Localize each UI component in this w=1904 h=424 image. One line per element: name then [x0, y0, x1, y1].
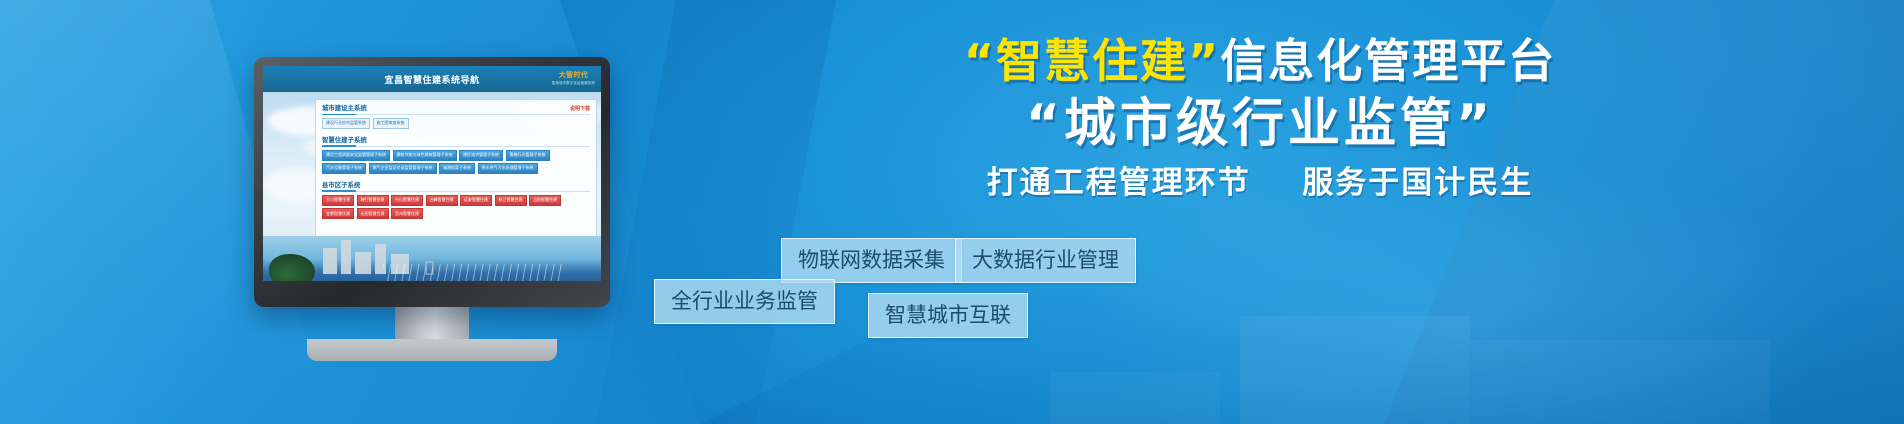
headline-line-1-rest: 信息化管理平台 [1220, 34, 1556, 88]
screen-section-sub-systems: 智慧住建子系统 建设工程质量安全监管管理子系统 建筑节能与绿色建筑管理子系统 建… [316, 132, 596, 174]
headline-highlight-text: “智慧住建” [964, 34, 1220, 88]
monitor-bezel: 宜昌智慧住建系统导航 大智时代 智慧城市数字化运营服务商 说明下载 [254, 57, 610, 307]
screen-body: 说明下载 城市建设主系统 建设行业综合监管系统 施工图审查系统 智慧住建子系统 [263, 92, 601, 281]
system-chip[interactable]: 策略行光管理子系统 [506, 150, 550, 161]
building-shape [341, 240, 351, 274]
system-chip[interactable]: 竞州智慧住建 [391, 208, 423, 219]
section-chip-list: 建设行业综合监管系统 施工图审查系统 [322, 118, 590, 129]
system-chip[interactable]: 建筑节能与绿色建筑管理子系统 [393, 150, 457, 161]
section-chip-list: 建设工程质量安全监管管理子系统 建筑节能与绿色建筑管理子系统 建民渣济管理子系统… [322, 150, 590, 174]
promo-banner: 宜昌智慧住建系统导航 大智时代 智慧城市数字化运营服务商 说明下载 [0, 0, 1904, 424]
screen-header: 宜昌智慧住建系统导航 大智时代 智慧城市数字化运营服务商 [263, 66, 601, 92]
headline-line-3-left: 打通工程管理环节 [987, 165, 1251, 201]
headline-line-3-right: 服务于国计民生 [1302, 165, 1533, 201]
system-chip[interactable]: 建民渣济管理子系统 [459, 150, 503, 161]
headline-group: “智慧住建”信息化管理平台 “城市级行业监管” 打通工程管理环节 服务于国计民生 [640, 36, 1880, 202]
system-chip[interactable]: 燃气企业监证对谈监管管理子系统 [369, 163, 437, 174]
system-chip[interactable]: 远安智慧住建 [460, 195, 492, 206]
system-chip[interactable]: 城建档案子系统 [439, 163, 475, 174]
tag-pill-all-industry-supervision[interactable]: 全行业业务监管 [654, 279, 835, 324]
system-chip[interactable]: 污水设备管理子系统 [322, 163, 366, 174]
background-slab-2 [1470, 340, 1770, 424]
system-chip[interactable]: 五峰智慧住建 [426, 195, 458, 206]
building-shape [323, 248, 337, 274]
monitor-stand-neck [395, 307, 469, 339]
background-slab-1 [1240, 316, 1470, 424]
system-chip[interactable]: 建设行业综合监管系统 [322, 118, 370, 129]
section-title: 城市建设主系统 [322, 103, 590, 115]
screen-brand-name: 大智时代 [552, 70, 595, 80]
system-chip[interactable]: 秧归智慧住建 [357, 195, 389, 206]
monitor-stand-foot [307, 339, 557, 361]
tree-shape [269, 254, 315, 281]
tag-pill-bigdata-industry-management[interactable]: 大数据行业管理 [955, 238, 1136, 283]
headline-line-2: “城市级行业监管” [640, 96, 1880, 153]
bridge-shape [383, 264, 563, 281]
system-chip[interactable]: 长阳智慧住建 [357, 208, 389, 219]
screen-section-district-systems: 县市区子系统 大川智慧住建 秧归智慧住建 兴山智慧住建 五峰智慧住建 远安智慧住… [316, 177, 596, 219]
monitor-screen: 宜昌智慧住建系统导航 大智时代 智慧城市数字化运营服务商 说明下载 [263, 66, 601, 281]
apple-logo-icon:  [425, 260, 439, 276]
section-chip-list: 大川智慧住建 秧归智慧住建 兴山智慧住建 五峰智慧住建 远安智慧住建 枝江智慧住… [322, 195, 590, 219]
system-chip[interactable]: 施工图审查系统 [373, 118, 409, 129]
headline-line-1: “智慧住建”信息化管理平台 [640, 36, 1880, 88]
system-chip[interactable]: 兴山智慧住建 [391, 195, 423, 206]
section-title: 智慧住建子系统 [322, 135, 590, 147]
system-chip[interactable]: 供水供气污水处理管理子系统 [478, 163, 538, 174]
section-title: 县市区子系统 [322, 180, 590, 192]
screen-brand-tagline: 智慧城市数字化运营服务商 [552, 80, 595, 85]
system-chip[interactable]: 枝江智慧住建 [495, 195, 527, 206]
tag-pill-iot-data-collection[interactable]: 物联网数据采集 [781, 238, 962, 283]
monitor-mockup: 宜昌智慧住建系统导航 大智时代 智慧城市数字化运营服务商 说明下载 [254, 57, 610, 307]
system-chip[interactable]: 当阳智慧住建 [529, 195, 561, 206]
system-chip[interactable]: 大川智慧住建 [322, 195, 354, 206]
screen-section-main-system: 城市建设主系统 建设行业综合监管系统 施工图审查系统 [316, 100, 596, 129]
system-chip[interactable]: 建设工程质量安全监管管理子系统 [322, 150, 390, 161]
tag-pill-smart-city-interconnect[interactable]: 智慧城市互联 [868, 293, 1028, 338]
screen-header-title: 宜昌智慧住建系统导航 [384, 73, 479, 86]
background-slab-3 [1050, 372, 1220, 424]
headline-line-3: 打通工程管理环节 服务于国计民生 [640, 165, 1880, 202]
building-shape [355, 252, 371, 274]
screen-brand-logo: 大智时代 智慧城市数字化运营服务商 [552, 70, 595, 85]
system-chip[interactable]: 宜都智慧住建 [322, 208, 354, 219]
